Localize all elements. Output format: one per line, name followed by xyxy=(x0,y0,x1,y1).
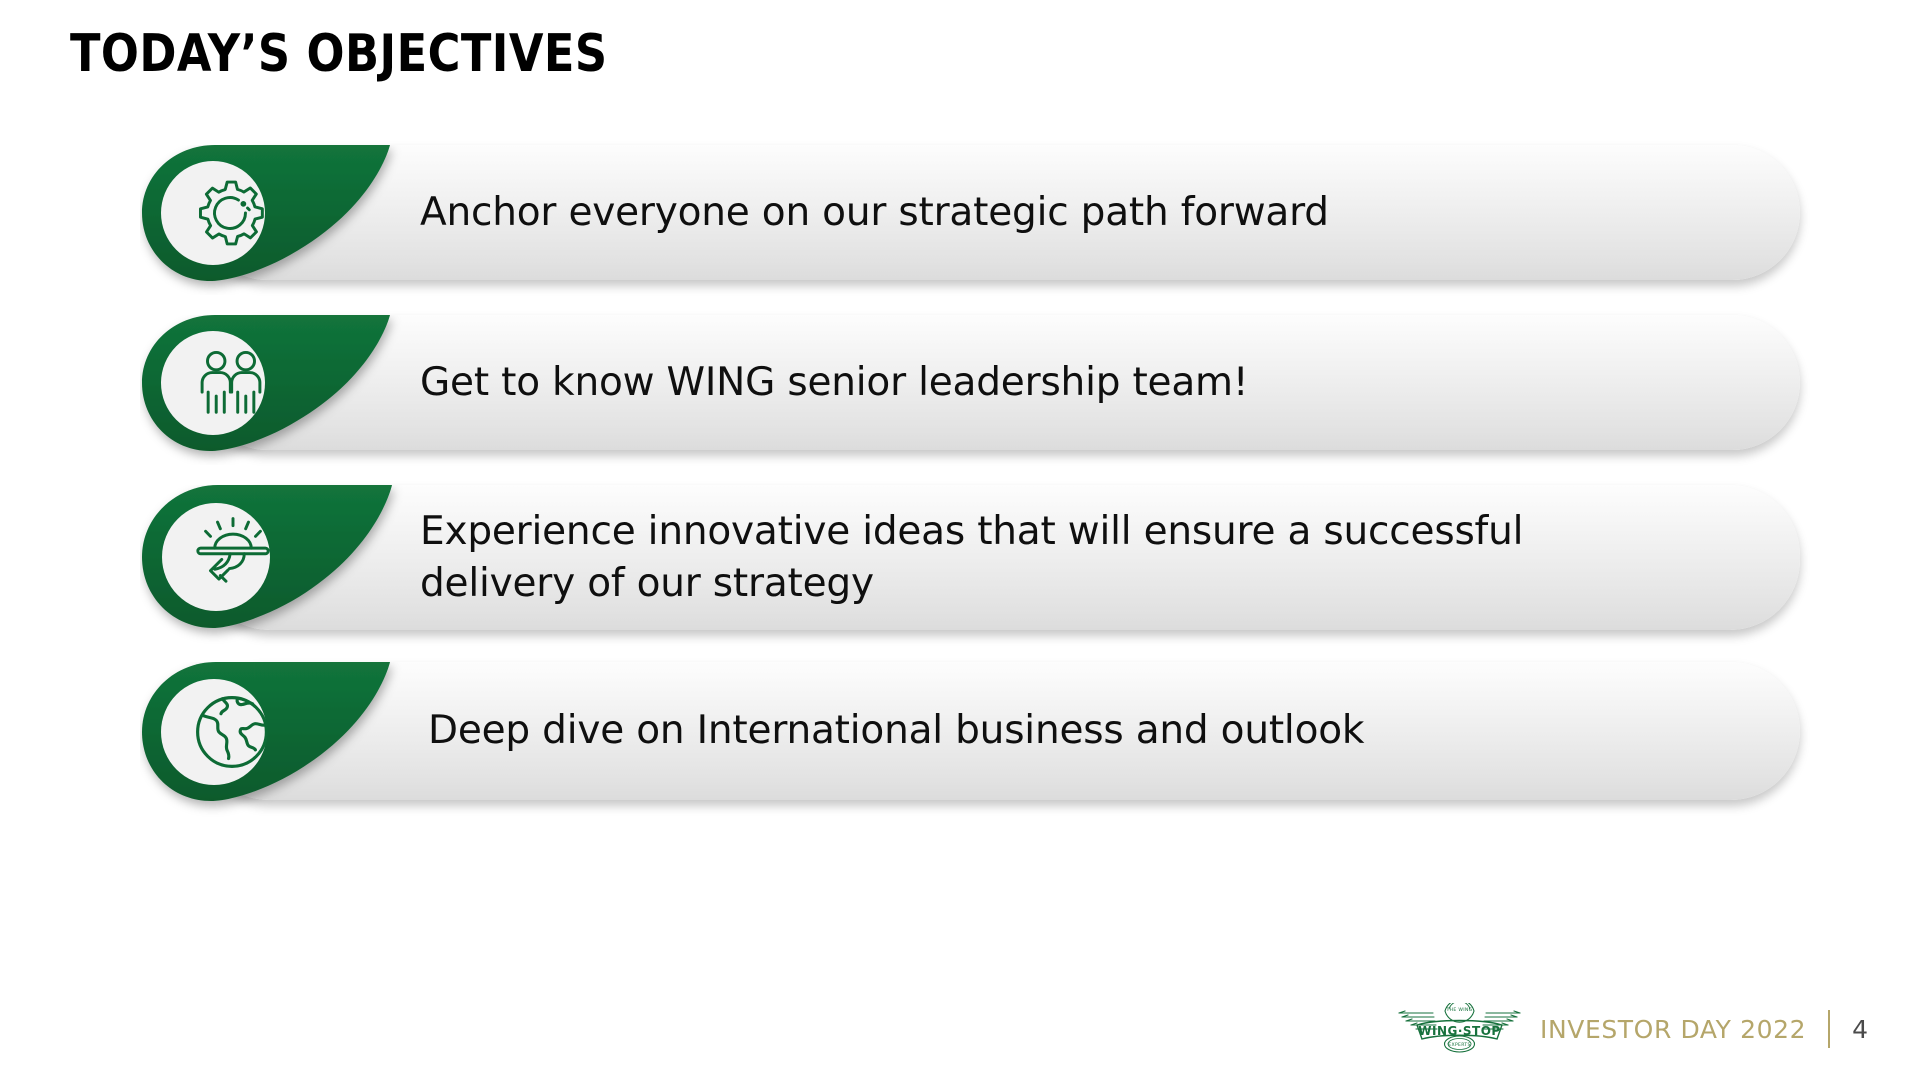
objective-text: Anchor everyone on our strategic path fo… xyxy=(420,187,1329,238)
svg-text:THE WING: THE WING xyxy=(1446,1007,1473,1013)
objective-badge xyxy=(140,145,420,295)
objective-text: Deep dive on International business and … xyxy=(428,705,1364,756)
page-number: 4 xyxy=(1852,1015,1868,1044)
footer-divider xyxy=(1828,1010,1830,1048)
page-title: TODAY’S OBJECTIVES xyxy=(70,24,607,84)
objective-badge xyxy=(140,315,420,465)
footer-label: INVESTOR DAY 2022 xyxy=(1540,1015,1806,1044)
objective-badge xyxy=(140,662,420,817)
objective-pill[interactable]: Experience innovative ideas that will en… xyxy=(200,485,1800,630)
wingstop-logo: WING·STOP THE WING EXPERTS xyxy=(1397,1003,1522,1055)
objective-text: Get to know WING senior leadership team! xyxy=(420,357,1248,408)
objective-pill[interactable]: Anchor everyone on our strategic path fo… xyxy=(200,145,1800,280)
objective-pill[interactable]: Deep dive on International business and … xyxy=(200,662,1800,800)
svg-text:WING·STOP: WING·STOP xyxy=(1418,1024,1500,1038)
objective-pill[interactable]: Get to know WING senior leadership team! xyxy=(200,315,1800,450)
footer: WING·STOP THE WING EXPERTS INVESTOR DAY … xyxy=(1397,1000,1868,1058)
svg-text:EXPERTS: EXPERTS xyxy=(1448,1042,1470,1048)
objective-badge xyxy=(140,485,420,645)
objective-text: Experience innovative ideas that will en… xyxy=(420,506,1600,609)
